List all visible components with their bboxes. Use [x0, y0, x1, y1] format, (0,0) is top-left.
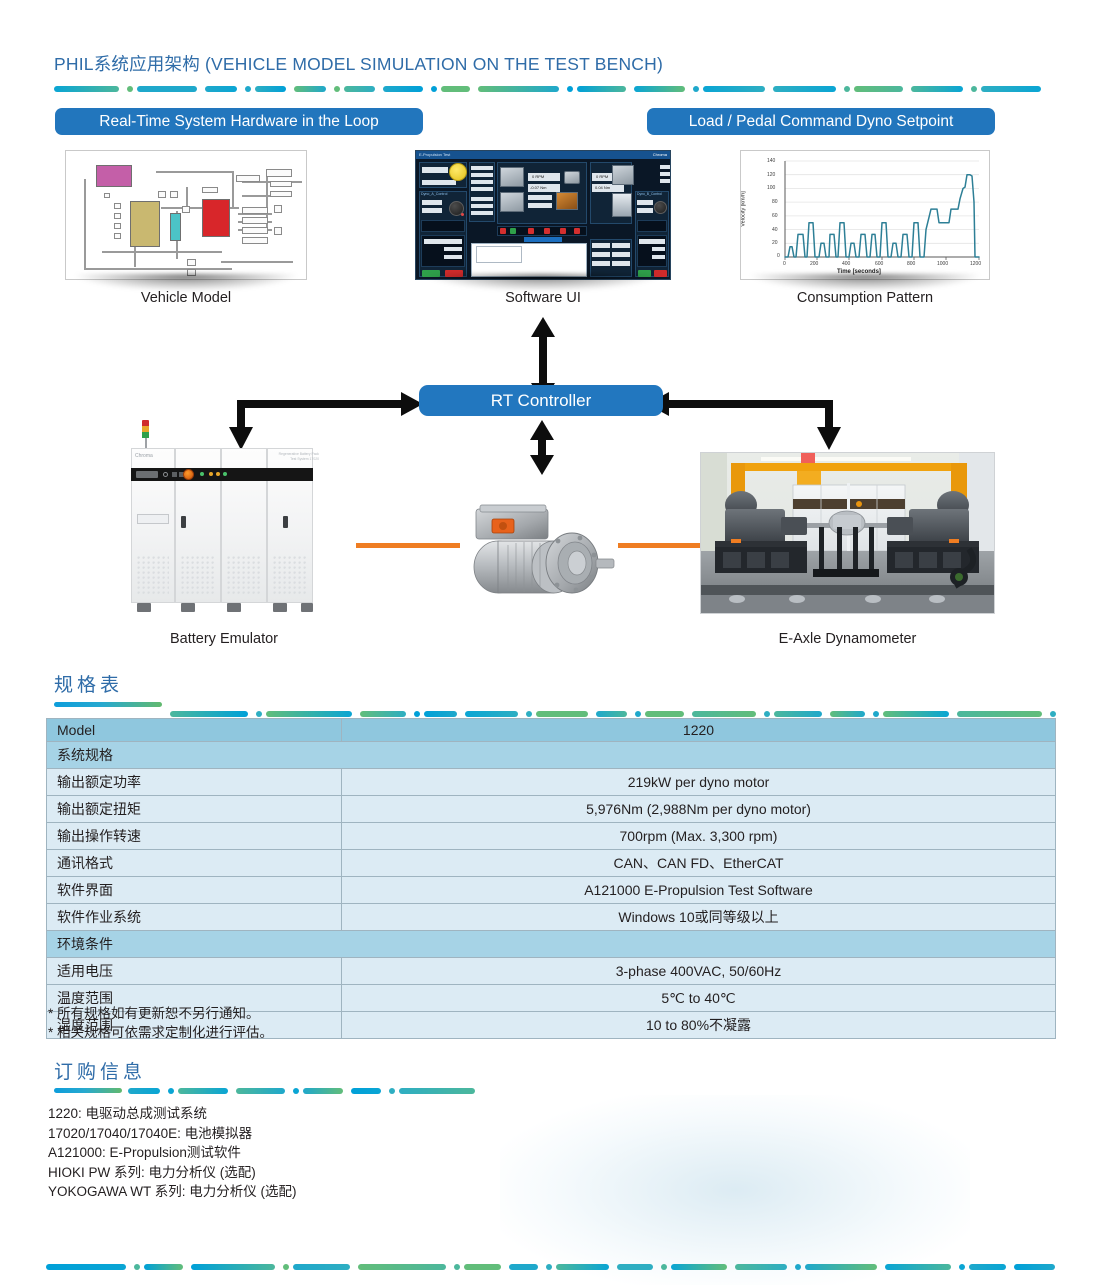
table-cell-value: 700rpm (Max. 3,300 rpm)	[342, 823, 1056, 850]
table-cell-key: 软件界面	[47, 877, 342, 904]
caption-eaxle-dynamometer: E-Axle Dynamometer	[700, 631, 995, 647]
simulink-block-olive	[130, 201, 160, 247]
table-row: 输出操作转速700rpm (Max. 3,300 rpm)	[47, 823, 1056, 850]
e-axle-dynamometer-photo	[700, 452, 995, 614]
table-cell-key: 输出额定功率	[47, 769, 342, 796]
rt-controller-down-arrow	[527, 420, 557, 475]
table-cell-value: A121000 E-Propulsion Test Software	[342, 877, 1056, 904]
table-cell-value: 1220	[342, 719, 1056, 742]
simulink-block-red	[202, 199, 230, 237]
consumption-pattern-chart: 140 120 100 80 60 40 20 0 0 200 400 600 …	[741, 151, 989, 279]
e-axle-photo	[458, 495, 622, 605]
simulink-block-cyan	[170, 213, 181, 241]
table-row: 适用电压3-phase 400VAC, 50/60Hz	[47, 958, 1056, 985]
e-axle-svg	[458, 495, 622, 605]
table-row: 通讯格式CAN、CAN FD、EtherCAT	[47, 850, 1056, 877]
spec-section-rule	[170, 711, 1056, 717]
table-row: 输出额定扭矩5,976Nm (2,988Nm per dyno motor)	[47, 796, 1056, 823]
torque-b-readout: 0.04 Nm	[595, 185, 610, 190]
consumption-pattern-frame: 140 120 100 80 60 40 20 0 0 200 400 600 …	[740, 150, 990, 280]
table-row: 软件作业系统Windows 10或同等级以上	[47, 904, 1056, 931]
motor-photo	[500, 192, 524, 212]
inverter-photo	[556, 192, 578, 210]
caption-vehicle-model: Vehicle Model	[65, 290, 307, 306]
caption-software-ui: Software UI	[415, 290, 671, 306]
battery-emulator-photo: Chroma Regenerative Battery PackTest Sys…	[125, 420, 323, 615]
simulink-diagram	[66, 151, 306, 279]
software-ui-screenshot: E-Propulsion Test Chroma Dyno_A_Control	[416, 151, 670, 279]
dyno-b-photo	[612, 165, 634, 185]
table-section-label: 系统规格	[47, 742, 1056, 769]
table-cell-key: 输出额定扭矩	[47, 796, 342, 823]
torque-a-readout: -0.07 Nm	[530, 185, 546, 190]
phil-section-title: PHIL系统应用架构 (VEHICLE MODEL SIMULATION ON …	[54, 51, 663, 76]
eaxle-icon-photo	[564, 171, 580, 184]
cabinet-photo	[612, 193, 632, 217]
spec-section-title: 规格表	[54, 670, 123, 697]
table-cell-value: 3-phase 400VAC, 50/60Hz	[342, 958, 1056, 985]
orange-link-right	[618, 543, 708, 548]
table-cell-key: 软件作业系统	[47, 904, 342, 931]
table-cell-key: 通讯格式	[47, 850, 342, 877]
ordering-section-title: 订购信息	[54, 1057, 146, 1084]
table-row: 系统规格	[47, 742, 1056, 769]
ordering-section-bar	[54, 1088, 122, 1093]
caption-battery-emulator: Battery Emulator	[125, 631, 323, 647]
badge-load-pedal-command: Load / Pedal Command Dyno Setpoint	[647, 108, 995, 135]
spec-table-body: Model1220系统规格输出额定功率219kW per dyno motor输…	[47, 719, 1056, 1039]
table-row: Model1220	[47, 719, 1056, 742]
dynamometer-svg	[701, 453, 994, 613]
table-cell-value: 5,976Nm (2,988Nm per dyno motor)	[342, 796, 1056, 823]
consumption-pattern-shadow	[750, 274, 980, 291]
table-cell-value: Windows 10或同等级以上	[342, 904, 1056, 931]
dyno-a-label: Dyno_A_Control	[421, 192, 447, 196]
table-section-label: 环境条件	[47, 931, 1056, 958]
table-cell-value: 219kW per dyno motor	[342, 769, 1056, 796]
spec-section-bar	[54, 702, 162, 707]
software-ui-brand: Chroma	[653, 152, 667, 157]
table-row: 输出额定功率219kW per dyno motor	[47, 769, 1056, 796]
velocity-profile-svg	[741, 151, 989, 279]
table-cell-value: CAN、CAN FD、EtherCAT	[342, 850, 1056, 877]
badge-realtime-hil: Real-Time System Hardware in the Loop	[55, 108, 423, 135]
emergency-stop-icon	[183, 469, 194, 480]
orange-link-left	[356, 543, 460, 548]
table-cell-key: Model	[47, 719, 342, 742]
consumption-pattern-card: 140 120 100 80 60 40 20 0 0 200 400 600 …	[740, 150, 990, 280]
speed-b-readout: 0 RPM	[596, 174, 608, 179]
simulink-block-magenta	[96, 165, 132, 187]
vehicle-model-shadow	[75, 274, 298, 291]
footer-rule	[46, 1264, 1056, 1270]
ordering-section-rule	[128, 1088, 500, 1094]
safety-indicator	[449, 163, 467, 181]
software-ui-card: E-Propulsion Test Chroma Dyno_A_Control	[415, 150, 671, 280]
chart-ylabel: Velocity [km/h]	[741, 191, 747, 226]
vehicle-model-card	[65, 150, 307, 280]
software-ui-window-title: E-Propulsion Test	[419, 152, 450, 157]
spec-notes: * 所有规格如有更新恕不另行通知。 * 相关规格可依需求定制化进行评估。	[48, 1004, 273, 1042]
speed-a-readout: 0 RPM	[532, 174, 544, 179]
table-cell-key: 输出操作转速	[47, 823, 342, 850]
dyno-b-label: Dyno_B_Control	[637, 192, 662, 196]
dyno-a-photo	[500, 167, 524, 187]
specification-table: Model1220系统规格输出额定功率219kW per dyno motor输…	[46, 718, 1056, 1039]
software-ui-titlebar	[416, 151, 670, 159]
table-row: 环境条件	[47, 931, 1056, 958]
background-blob	[500, 1095, 970, 1285]
rt-controller-box: RT Controller	[419, 385, 663, 416]
table-cell-value: 10 to 80%不凝露	[342, 1012, 1056, 1039]
software-ui-frame: E-Propulsion Test Chroma Dyno_A_Control	[415, 150, 671, 280]
vehicle-model-frame	[65, 150, 307, 280]
caption-consumption-pattern: Consumption Pattern	[740, 290, 990, 306]
table-cell-value: 5℃ to 40℃	[342, 985, 1056, 1012]
ordering-item-list: 1220: 电驱动总成测试系统 17020/17040/17040E: 电池模拟…	[48, 1104, 297, 1202]
table-cell-key: 适用电压	[47, 958, 342, 985]
table-row: 软件界面A121000 E-Propulsion Test Software	[47, 877, 1056, 904]
software-ui-shadow	[425, 274, 661, 291]
phil-section-rule	[54, 86, 1056, 92]
